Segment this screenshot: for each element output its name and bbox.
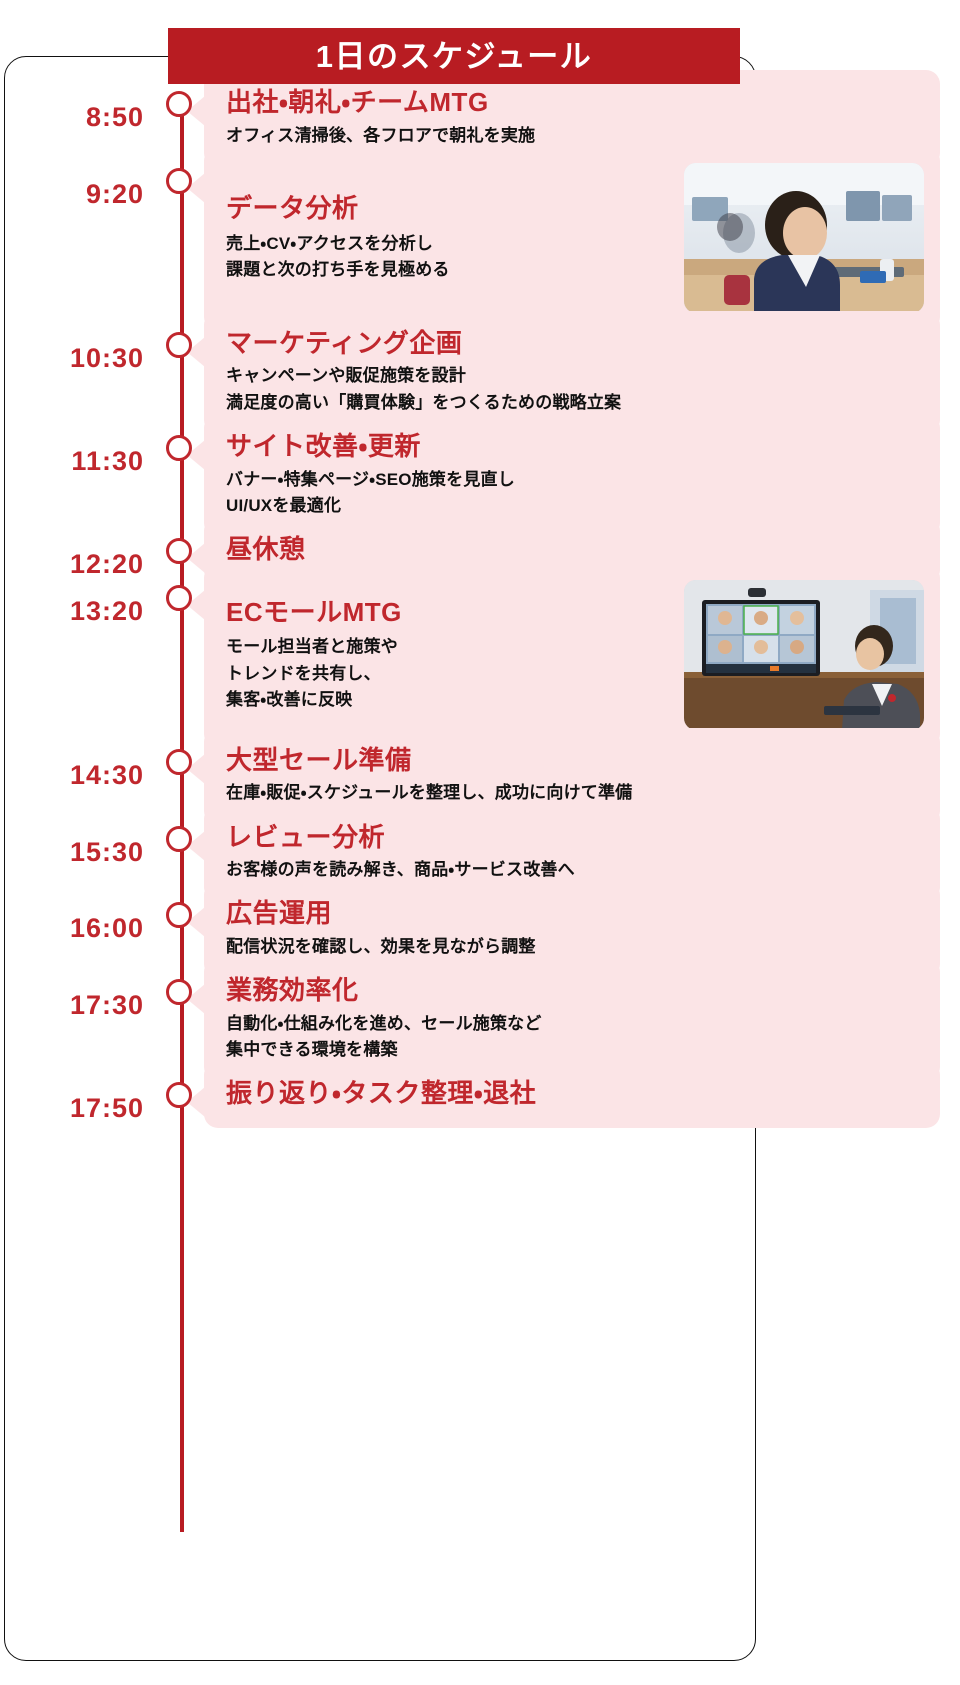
card-description-line: キャンペーンや販促施策を設計: [226, 363, 918, 389]
card-title: 出社・朝礼・チームMTG: [226, 86, 918, 119]
schedule-infographic: 1日のスケジュール 8:50出社・朝礼・チームMTGオフィス清掃後、各フロアで朝…: [0, 0, 960, 1685]
time-label: 16:00: [0, 915, 160, 942]
timeline-dot-icon: [166, 749, 192, 775]
office-desk-work-photo: [684, 163, 924, 313]
time-label: 12:20: [0, 551, 160, 578]
timeline-dot-icon: [166, 585, 192, 611]
card-description-line: 課題と次の打ち手を見極める: [226, 257, 670, 283]
card-description-line: 満足度の高い「購買体験」をつくるための戦略立案: [226, 390, 918, 416]
card-text-block: 広告運用配信状況を確認し、効果を見ながら調整: [226, 897, 918, 960]
card-title: 広告運用: [226, 897, 918, 930]
card-description-line: モール担当者と施策や: [226, 634, 670, 660]
timeline-dot-icon: [166, 435, 192, 461]
card-description-line: バナー・特集ページ・SEO施策を見直し: [226, 467, 918, 493]
card-text-block: データ分析売上・CV・アクセスを分析し課題と次の打ち手を見極める: [226, 192, 670, 283]
timeline-dot-icon: [166, 826, 192, 852]
schedule-card: データ分析売上・CV・アクセスを分析し課題と次の打ち手を見極める: [204, 147, 940, 331]
card-description-line: トレンドを共有し、: [226, 661, 670, 687]
time-label: 17:50: [0, 1095, 160, 1122]
time-label: 13:20: [0, 598, 160, 625]
timeline-list: 8:50出社・朝礼・チームMTGオフィス清掃後、各フロアで朝礼を実施9:20デー…: [0, 104, 960, 1142]
timeline-row: 17:50振り返り・タスク整理・退社: [0, 1095, 960, 1128]
card-title: ECモールMTG: [226, 596, 670, 629]
card-title: サイト改善・更新: [226, 430, 918, 463]
card-description-line: オフィス清掃後、各フロアで朝礼を実施: [226, 123, 918, 149]
time-label: 15:30: [0, 839, 160, 866]
card-text-block: レビュー分析お客様の声を読み解き、商品・サービス改善へ: [226, 821, 918, 884]
card-text-block: 昼休憩: [226, 533, 918, 566]
card-description-line: 在庫・販促・スケジュールを整理し、成功に向けて準備: [226, 780, 918, 806]
timeline-dot-icon: [166, 91, 192, 117]
card-text-block: 出社・朝礼・チームMTGオフィス清掃後、各フロアで朝礼を実施: [226, 86, 918, 149]
video-conference-meeting-photo: [684, 580, 924, 730]
schedule-card: 振り返り・タスク整理・退社: [204, 1061, 940, 1128]
card-title: 昼休憩: [226, 533, 918, 566]
schedule-card: ECモールMTGモール担当者と施策やトレンドを共有し、集客・改善に反映: [204, 564, 940, 748]
time-label: 14:30: [0, 762, 160, 789]
card-title: 業務効率化: [226, 974, 918, 1007]
time-label: 17:30: [0, 992, 160, 1019]
card-description-line: 売上・CV・アクセスを分析し: [226, 231, 670, 257]
time-label: 10:30: [0, 345, 160, 372]
card-description-line: UI/UXを最適化: [226, 493, 918, 519]
timeline-dot-icon: [166, 168, 192, 194]
timeline-row: 13:20ECモールMTGモール担当者と施策やトレンドを共有し、集客・改善に反映: [0, 598, 960, 748]
card-description-line: 集客・改善に反映: [226, 687, 670, 713]
timeline-card-slot: ECモールMTGモール担当者と施策やトレンドを共有し、集客・改善に反映: [204, 564, 940, 748]
card-title: レビュー分析: [226, 821, 918, 854]
time-label: 11:30: [0, 448, 160, 475]
timeline-card-slot: 振り返り・タスク整理・退社: [204, 1061, 940, 1128]
timeline-dot-icon: [166, 332, 192, 358]
card-title: 振り返り・タスク整理・退社: [226, 1077, 918, 1110]
header-banner: 1日のスケジュール: [168, 28, 740, 84]
card-description-line: お客様の声を読み解き、商品・サービス改善へ: [226, 857, 918, 883]
page-title: 1日のスケジュール: [316, 41, 593, 72]
card-text-block: サイト改善・更新バナー・特集ページ・SEO施策を見直しUI/UXを最適化: [226, 430, 918, 519]
card-text-block: ECモールMTGモール担当者と施策やトレンドを共有し、集客・改善に反映: [226, 596, 670, 714]
card-title: データ分析: [226, 192, 670, 225]
card-text-block: 大型セール準備在庫・販促・スケジュールを整理し、成功に向けて準備: [226, 744, 918, 807]
card-description-line: 配信状況を確認し、効果を見ながら調整: [226, 934, 918, 960]
time-label: 8:50: [0, 104, 160, 131]
card-description-line: 自動化・仕組み化を進め、セール施策など: [226, 1011, 918, 1037]
card-title: マーケティング企画: [226, 327, 918, 360]
card-description-line: 集中できる環境を構築: [226, 1037, 918, 1063]
timeline-row: 9:20データ分析売上・CV・アクセスを分析し課題と次の打ち手を見極める: [0, 181, 960, 331]
timeline-card-slot: データ分析売上・CV・アクセスを分析し課題と次の打ち手を見極める: [204, 147, 940, 331]
card-text-block: 振り返り・タスク整理・退社: [226, 1077, 918, 1110]
time-label: 9:20: [0, 181, 160, 208]
card-title: 大型セール準備: [226, 744, 918, 777]
card-text-block: マーケティング企画キャンペーンや販促施策を設計満足度の高い「購買体験」をつくるた…: [226, 327, 918, 416]
card-text-block: 業務効率化自動化・仕組み化を進め、セール施策など集中できる環境を構築: [226, 974, 918, 1063]
